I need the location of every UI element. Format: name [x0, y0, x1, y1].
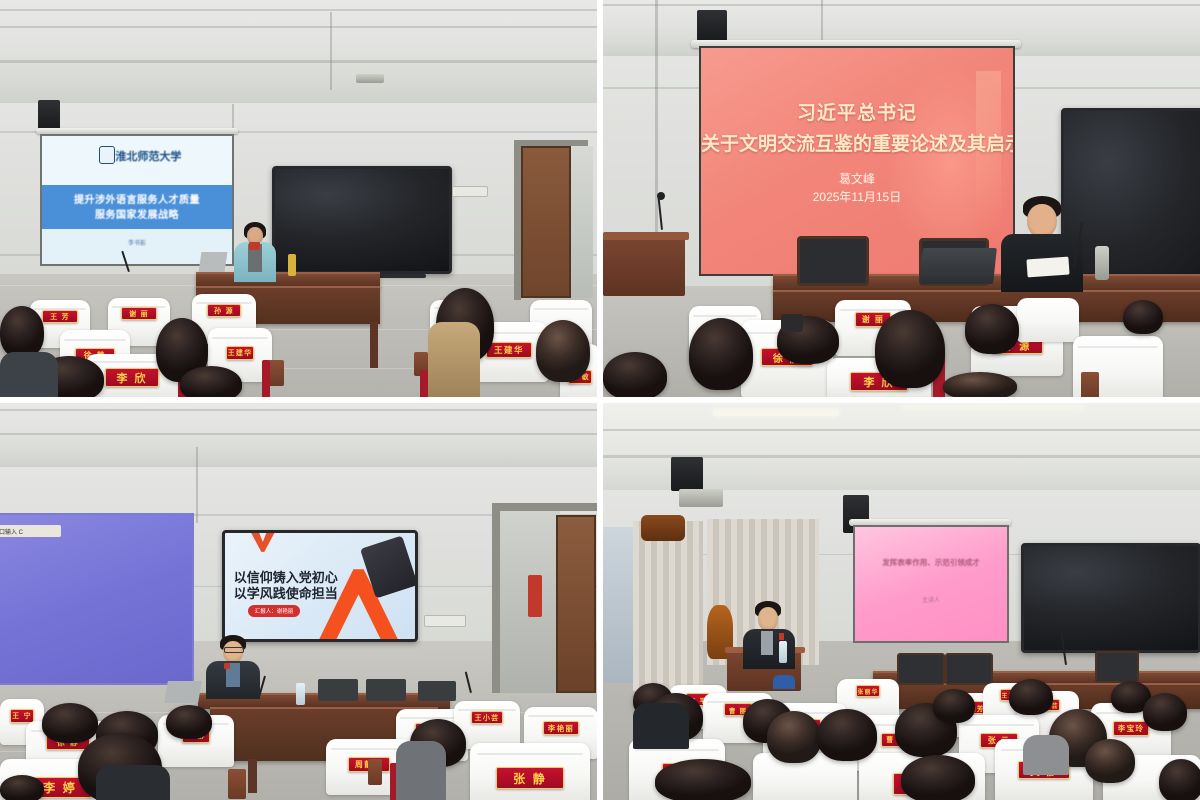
photo-top-right: 习近平总书记 关于文明交流互鉴的重要论述及其启示 葛文峰 2025年11月15日: [603, 0, 1200, 397]
seat-name-tag: 李宝玲: [1113, 721, 1149, 736]
slide-presenter-badge: 汇报人：谢艳丽: [248, 605, 301, 617]
photo-top-left: 淮北师范大学 提升涉外语言服务人才质量 服务国家发展战略 李书影: [0, 0, 597, 397]
slide-presenter: 葛文峰: [701, 170, 1013, 187]
seat-name-tag: 王建华: [226, 346, 254, 360]
photo-bottom-left: 口输入 C 以信仰铸入党初心 以学风践使命担当 汇报人：谢艳丽: [0, 403, 597, 800]
photo-bottom-right: 发挥表率作用、示范引领成才 主讲人: [603, 403, 1200, 800]
projector-screen-bottom-left: 口输入 C: [0, 513, 194, 685]
slide-title-line1: 习近平总书记: [701, 98, 1013, 125]
presenter-top-right: [1001, 196, 1083, 292]
seat-name-tag: 李 欣: [105, 368, 159, 387]
university-name: 淮北师范大学: [53, 148, 232, 164]
seat-name-tag: 谢 丽: [121, 307, 157, 320]
slide-title-line2: 服务国家发展战略: [42, 206, 232, 221]
slide-title: 发挥表率作用、示范引领成才: [855, 557, 1007, 568]
projector-screen-top-left: 淮北师范大学 提升涉外语言服务人才质量 服务国家发展战略 李书影: [40, 134, 234, 266]
door: [556, 515, 596, 693]
slide-title-line2: 以学风践使命担当: [225, 583, 381, 602]
door: [521, 146, 571, 298]
photo-collage: 淮北师范大学 提升涉外语言服务人才质量 服务国家发展战略 李书影: [0, 0, 1200, 800]
flat-panel-display-bottom-right: [1021, 543, 1200, 653]
seat-name-tag: 王建华: [486, 342, 532, 358]
chevron-accent-icon: [248, 533, 278, 555]
seat-name-tag: 张丽华: [856, 685, 880, 697]
slide-presenter: 李书影: [42, 238, 232, 247]
seat-name-tag: 张 静: [496, 767, 564, 789]
slide-date: 2025年11月15日: [701, 188, 1013, 205]
seat-name-tag: 王 芳: [42, 310, 78, 323]
slide-title-line2: 关于文明交流互鉴的重要论述及其启示: [701, 129, 1013, 156]
seat-name-tag: 李艳丽: [543, 721, 579, 735]
presenter-top-left: [232, 222, 278, 280]
seat-name-tag: 孙 源: [207, 304, 241, 317]
presenter-bottom-left: [206, 635, 260, 697]
slide-subtitle: 主讲人: [855, 595, 1007, 604]
seat-name-tag: 王小芸: [471, 711, 503, 724]
ceiling-vent-icon: [356, 74, 384, 83]
flat-panel-display-top-left: [272, 166, 452, 274]
slide-title-line1: 提升涉外语言服务人才质量: [42, 191, 232, 206]
ime-overlay: 口输入 C: [0, 525, 61, 537]
seat: 张 静: [470, 743, 590, 800]
wall-speaker-icon: [697, 10, 727, 42]
flat-panel-display-bottom-left: 以信仰铸入党初心 以学风践使命担当 汇报人：谢艳丽: [222, 530, 418, 642]
podium: [603, 236, 685, 296]
ceiling-light-icon: [713, 409, 839, 416]
projector-screen-bottom-right: 发挥表率作用、示范引领成才 主讲人: [853, 525, 1009, 643]
wall-speaker-icon: [671, 457, 703, 491]
ceiling-projector-icon: [679, 489, 723, 507]
presenter-bottom-right: [743, 601, 795, 667]
ceiling-light-icon: [903, 405, 1083, 410]
fire-extinguisher-sign-icon: [528, 575, 542, 617]
decor-statue: [641, 515, 685, 541]
